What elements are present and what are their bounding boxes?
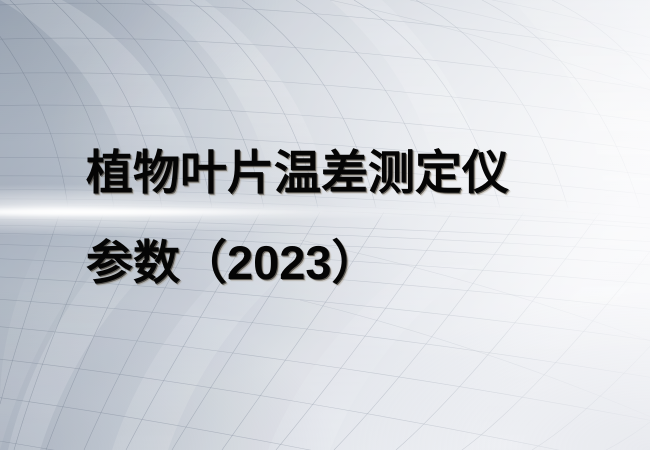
title-slide: 植物叶片温差测定仪 参数（2023） [0, 0, 650, 450]
slide-title-line-2: 参数（2023） [86, 218, 626, 308]
slide-title-block: 植物叶片温差测定仪 参数（2023） [86, 128, 626, 308]
slide-title-line-1: 植物叶片温差测定仪 [86, 128, 626, 218]
